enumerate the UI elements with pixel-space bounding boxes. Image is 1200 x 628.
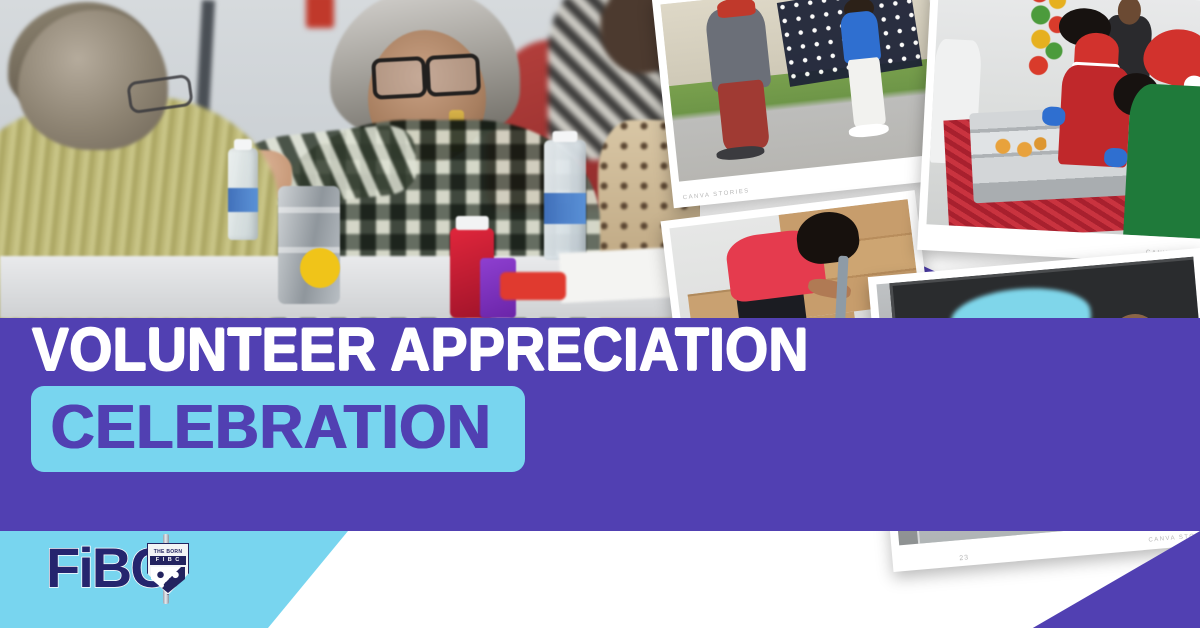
shield-band-text: F I B C xyxy=(150,556,186,565)
hero-paper-napkin xyxy=(559,247,681,303)
photo-c-image xyxy=(926,0,1200,239)
promo-graphic-canvas: CANVA STORIES CANVA STORIES xyxy=(0,0,1200,628)
photo-a-woman-white-pants xyxy=(847,57,886,128)
photo-a-watermark: CANVA STORIES xyxy=(683,188,751,201)
hero-yellow-sticker xyxy=(300,248,340,288)
page-title: VOLUNTEER APPRECIATION xyxy=(32,320,809,380)
status-badge: CELEBRATION xyxy=(31,386,525,472)
volunteer-meal-hero-photo xyxy=(0,0,700,318)
collage-photo-outdoor-dancing: CANVA STORIES xyxy=(652,0,957,208)
fibc-shield-crest-icon: THE BORN F I B C xyxy=(147,543,189,595)
photo-c-server-green-shirt xyxy=(1123,82,1200,239)
photo-a-woman-blue-shirt xyxy=(839,10,882,63)
hero-water-bottle-left xyxy=(228,148,258,240)
hero-red-tabletop-object xyxy=(500,272,566,300)
photo-a-man-shoes xyxy=(716,144,765,161)
collage-photo-holiday-serving-line: CANVA STORIES xyxy=(917,0,1200,266)
photo-c-food-items xyxy=(988,132,1047,164)
subhead-label: CELEBRATION xyxy=(51,397,492,459)
hero-woman-eyeglasses xyxy=(371,53,481,94)
photo-a-image xyxy=(660,0,945,182)
hero-water-bottle-right xyxy=(544,140,586,260)
hero-thermos xyxy=(278,186,340,304)
photo-d-frame-number: 23 xyxy=(959,554,969,562)
photo-a-man-red-pants xyxy=(717,80,769,152)
photo-a-man-shirt xyxy=(704,5,771,93)
photo-c-blue-glove-1 xyxy=(1042,106,1066,126)
hero-wall-sign xyxy=(306,0,334,28)
shield-quarters xyxy=(151,567,185,593)
photo-c-blue-glove-2 xyxy=(1104,148,1128,168)
fibc-logo: FiBC THE BORN F I B C xyxy=(46,536,226,602)
